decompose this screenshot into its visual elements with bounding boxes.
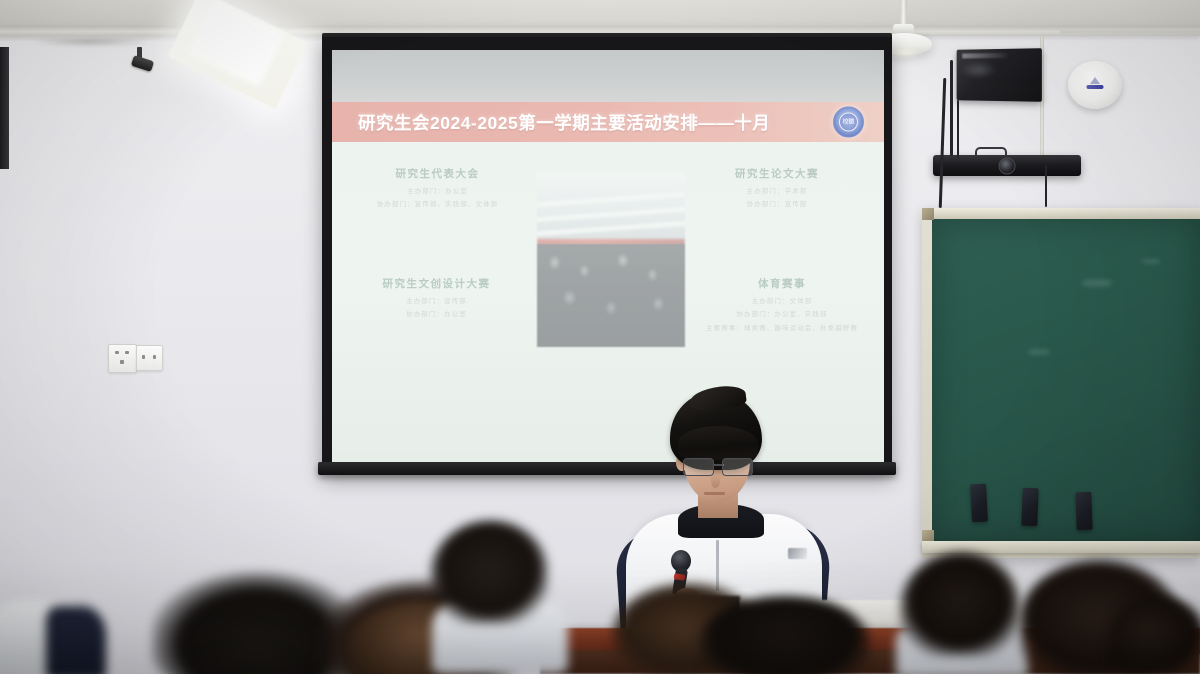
- chalkboard-eraser[interactable]: [1021, 488, 1038, 527]
- wall-outlet-1: [108, 344, 137, 373]
- block-heading: 体育赛事: [687, 276, 877, 291]
- soundbar-camera-icon: [933, 155, 1081, 176]
- presenter-nose: [711, 474, 720, 488]
- audience-member: [46, 606, 106, 674]
- block-line: 主要赛事：球类赛、趣味运动会、秋季越野赛: [687, 322, 877, 332]
- wifi-ap-led: [1087, 85, 1104, 89]
- classroom-photo-scene: 研究生会2024-2025第一学期主要活动安排——十月 校徽 研究生代表大会 主…: [0, 0, 1200, 674]
- slide-block-sports-events: 体育赛事 主办部门：文体部 协办部门：办公室、实践部 主要赛事：球类赛、趣味运动…: [687, 276, 877, 332]
- university-emblem-icon: 校徽: [833, 107, 864, 138]
- ceiling-lamp-stem: [900, 0, 907, 26]
- presenter-jacket-logo: [788, 548, 807, 559]
- slide-title: 研究生会2024-2025第一学期主要活动安排——十月: [358, 110, 770, 135]
- glasses-lens-left: [683, 458, 714, 476]
- wifi-access-point-icon: [1068, 61, 1122, 109]
- chalkboard-scuff: [1028, 349, 1050, 355]
- audience-member: [900, 552, 1020, 656]
- speaker-brand-label: [962, 53, 1007, 59]
- wall-seam-right: [1060, 30, 1200, 34]
- block-heading: 研究生文创设计大赛: [344, 276, 529, 291]
- presenter-hair-fringe: [678, 426, 758, 460]
- chalkboard-scuff: [1082, 279, 1112, 287]
- audience-member: [1110, 596, 1200, 674]
- wall-speaker-icon: [957, 48, 1042, 102]
- audience-member: [430, 520, 548, 624]
- block-heading: 研究生代表大会: [350, 166, 525, 181]
- block-line: 主办部门：宣传部: [344, 295, 529, 305]
- emblem-inner-text: 校徽: [839, 113, 858, 132]
- slide-block-cultural-design-competition: 研究生文创设计大赛 主办部门：宣传部 协办部门：办公室: [344, 276, 529, 318]
- block-line: 协办部门：宣传部: [687, 198, 867, 208]
- block-line: 主办部门：学术部: [687, 185, 867, 195]
- wall-outlet-2: [136, 345, 163, 371]
- block-line: 主办部门：文体部: [687, 295, 877, 305]
- camera-lens-icon: [999, 157, 1016, 174]
- block-line: 协办部门：宣传部、实践部、文体部: [350, 198, 525, 208]
- glasses-icon: [682, 458, 754, 475]
- slide-block-thesis-competition: 研究生论文大赛 主办部门：学术部 协办部门：宣传部: [687, 166, 867, 208]
- slide-top-band: [332, 50, 884, 102]
- cable-3: [957, 100, 959, 158]
- cable-4: [1045, 165, 1047, 207]
- block-line: 协办部门：办公室: [344, 308, 529, 318]
- presenter-mouth: [704, 492, 725, 495]
- chalkboard-frame-top: [922, 208, 1200, 219]
- cable-1: [950, 60, 953, 156]
- chalkboard-eraser[interactable]: [1075, 492, 1092, 531]
- slide-block-graduate-congress: 研究生代表大会 主办部门：办公室 协办部门：宣传部、实践部、文体部: [350, 166, 525, 208]
- chalkboard-corner-tl: [922, 208, 934, 220]
- slide-photo: [537, 172, 685, 347]
- block-line: 协办部门：办公室、实践部: [687, 308, 877, 318]
- block-line: 主办部门：办公室: [350, 185, 525, 195]
- glasses-lens-right: [722, 458, 753, 476]
- chalkboard-scuff: [1142, 259, 1160, 264]
- speaker-highlight: [960, 61, 997, 79]
- slide-photo-crowd: [537, 244, 685, 347]
- block-heading: 研究生论文大赛: [687, 166, 867, 181]
- slide-title-bar: 研究生会2024-2025第一学期主要活动安排——十月 校徽: [332, 102, 884, 142]
- chalkboard-eraser[interactable]: [970, 484, 988, 523]
- wall-stain: [30, 38, 150, 47]
- left-door-edge: [0, 47, 9, 169]
- wifi-ap-marker: [1090, 77, 1100, 84]
